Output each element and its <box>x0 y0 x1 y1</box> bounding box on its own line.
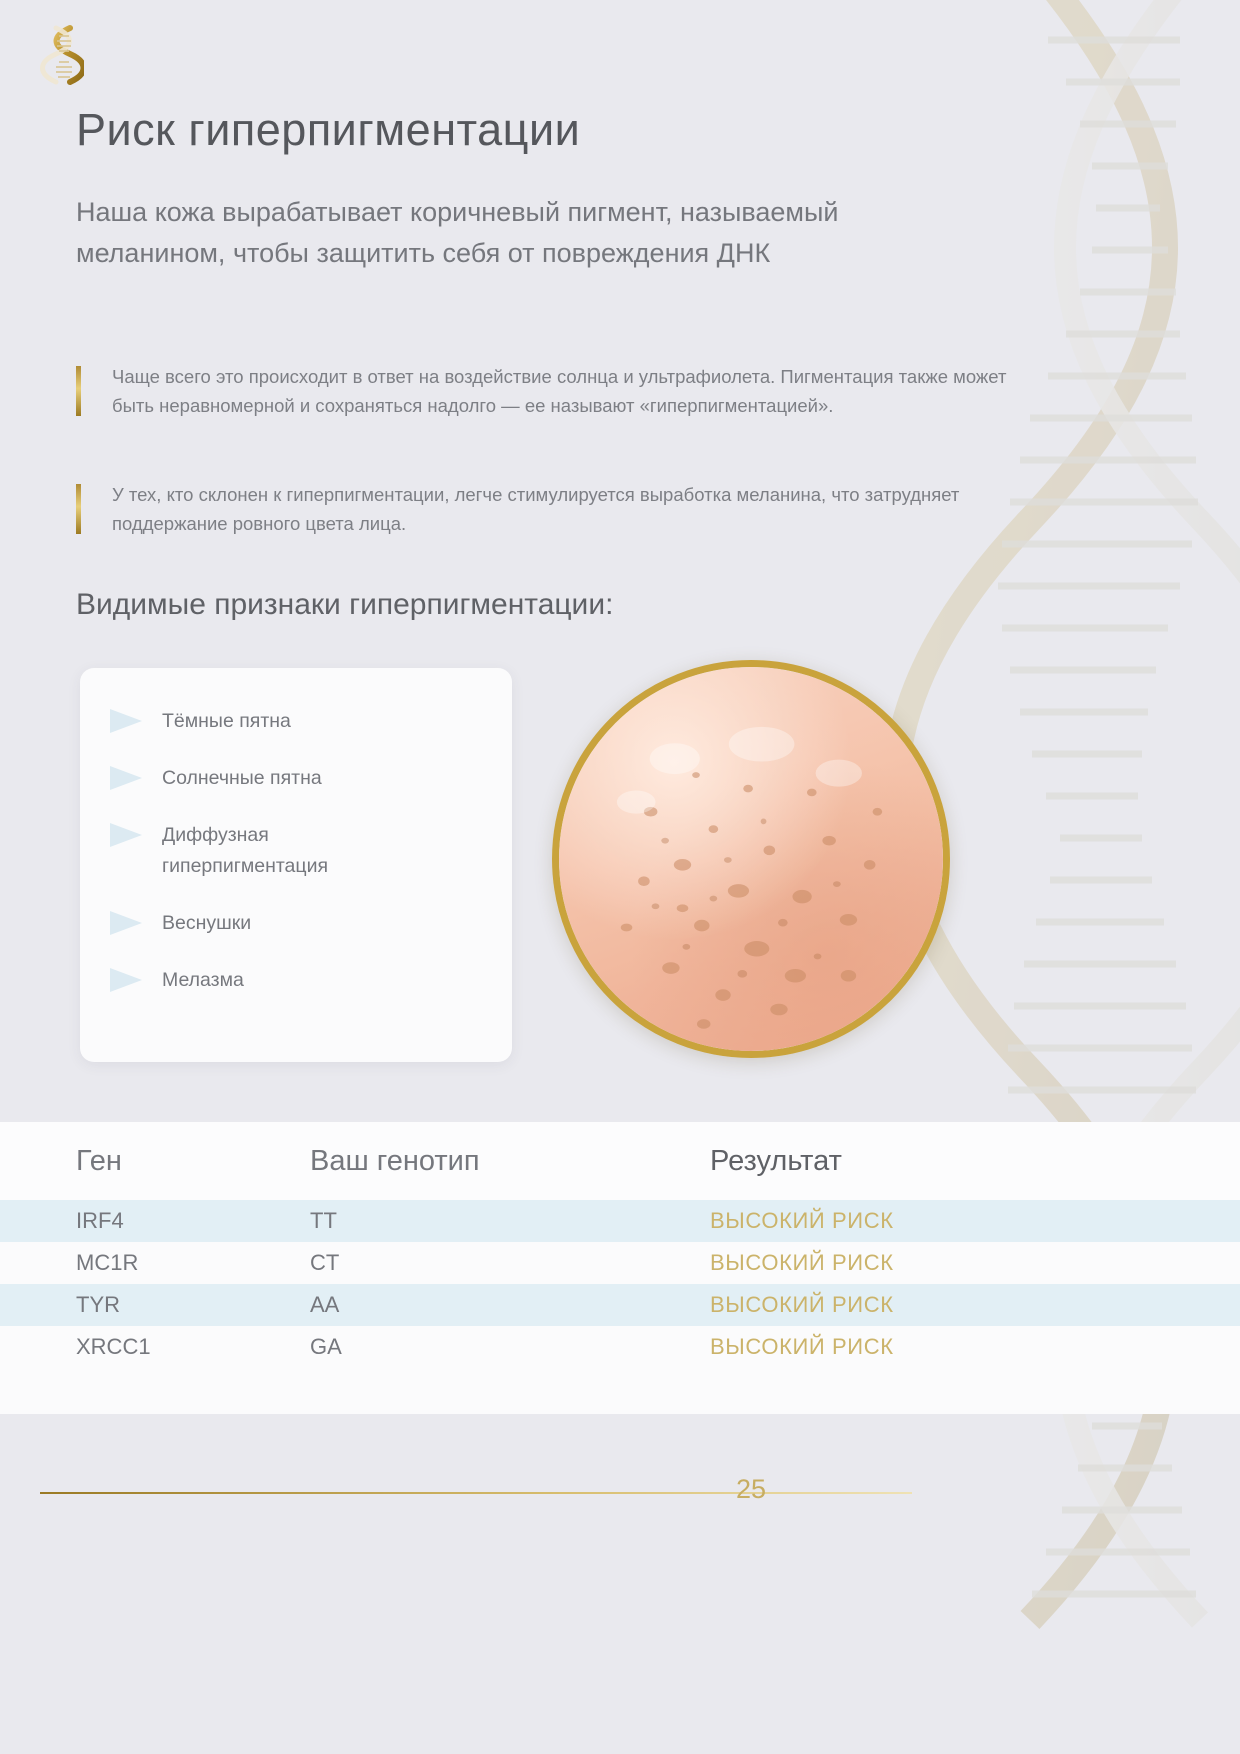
list-item: Диффузная гиперпигментация <box>80 820 512 882</box>
table-row: IRF4 TT ВЫСОКИЙ РИСК <box>0 1200 1240 1242</box>
triangle-right-icon <box>108 967 144 993</box>
page-number: 25 <box>736 1474 766 1505</box>
gold-accent-bar <box>76 366 81 416</box>
column-header-gene: Ген <box>0 1145 310 1178</box>
cell-result: ВЫСОКИЙ РИСК <box>710 1250 1240 1276</box>
cell-genotype: TT <box>310 1208 710 1234</box>
triangle-right-icon <box>108 765 144 791</box>
skin-hyperpigmentation-photo <box>552 660 950 1058</box>
cell-genotype: CT <box>310 1250 710 1276</box>
triangle-right-icon <box>108 822 144 848</box>
callout-block-2: У тех, кто склонен к гиперпигментации, л… <box>76 480 1026 538</box>
symptom-label: Диффузная гиперпигментация <box>162 820 432 882</box>
cell-gene: XRCC1 <box>0 1334 310 1360</box>
list-item: Солнечные пятна <box>80 763 512 794</box>
symptom-label: Солнечные пятна <box>162 763 322 794</box>
callout-text-2: У тех, кто склонен к гиперпигментации, л… <box>112 480 1026 538</box>
cell-result: ВЫСОКИЙ РИСК <box>710 1334 1240 1360</box>
symptom-label: Веснушки <box>162 908 251 939</box>
freckle-texture <box>559 667 943 1051</box>
genotype-results-table: Ген Ваш генотип Результат IRF4 TT ВЫСОКИ… <box>0 1122 1240 1414</box>
callout-text-1: Чаще всего это происходит в ответ на воз… <box>112 362 1026 420</box>
cell-genotype: AA <box>310 1292 710 1318</box>
table-row: XRCC1 GA ВЫСОКИЙ РИСК <box>0 1326 1240 1368</box>
cell-gene: TYR <box>0 1292 310 1318</box>
list-item: Веснушки <box>80 908 512 939</box>
cell-gene: MC1R <box>0 1250 310 1276</box>
footer-divider <box>40 1492 912 1494</box>
page-title: Риск гиперпигментации <box>76 104 580 156</box>
list-item: Тёмные пятна <box>80 706 512 737</box>
triangle-right-icon <box>108 910 144 936</box>
callout-block-1: Чаще всего это происходит в ответ на воз… <box>76 362 1026 420</box>
symptom-label: Мелазма <box>162 965 244 996</box>
list-item: Мелазма <box>80 965 512 996</box>
symptoms-card: Тёмные пятна Солнечные пятна Диффузная г… <box>80 668 512 1062</box>
table-row: TYR AA ВЫСОКИЙ РИСК <box>0 1284 1240 1326</box>
table-bottom-spacer <box>0 1368 1240 1414</box>
symptom-label: Тёмные пятна <box>162 706 291 737</box>
intro-paragraph: Наша кожа вырабатывает коричневый пигмен… <box>76 192 956 274</box>
cell-result: ВЫСОКИЙ РИСК <box>710 1208 1240 1234</box>
section-heading-symptoms: Видимые признаки гиперпигментации: <box>76 588 613 622</box>
gold-accent-bar <box>76 484 81 534</box>
cell-result: ВЫСОКИЙ РИСК <box>710 1292 1240 1318</box>
table-header-row: Ген Ваш генотип Результат <box>0 1122 1240 1200</box>
cell-genotype: GA <box>310 1334 710 1360</box>
dna-helix-icon <box>40 22 84 88</box>
triangle-right-icon <box>108 708 144 734</box>
table-row: MC1R CT ВЫСОКИЙ РИСК <box>0 1242 1240 1284</box>
column-header-genotype: Ваш генотип <box>310 1145 710 1178</box>
column-header-result: Результат <box>710 1145 1240 1178</box>
cell-gene: IRF4 <box>0 1208 310 1234</box>
